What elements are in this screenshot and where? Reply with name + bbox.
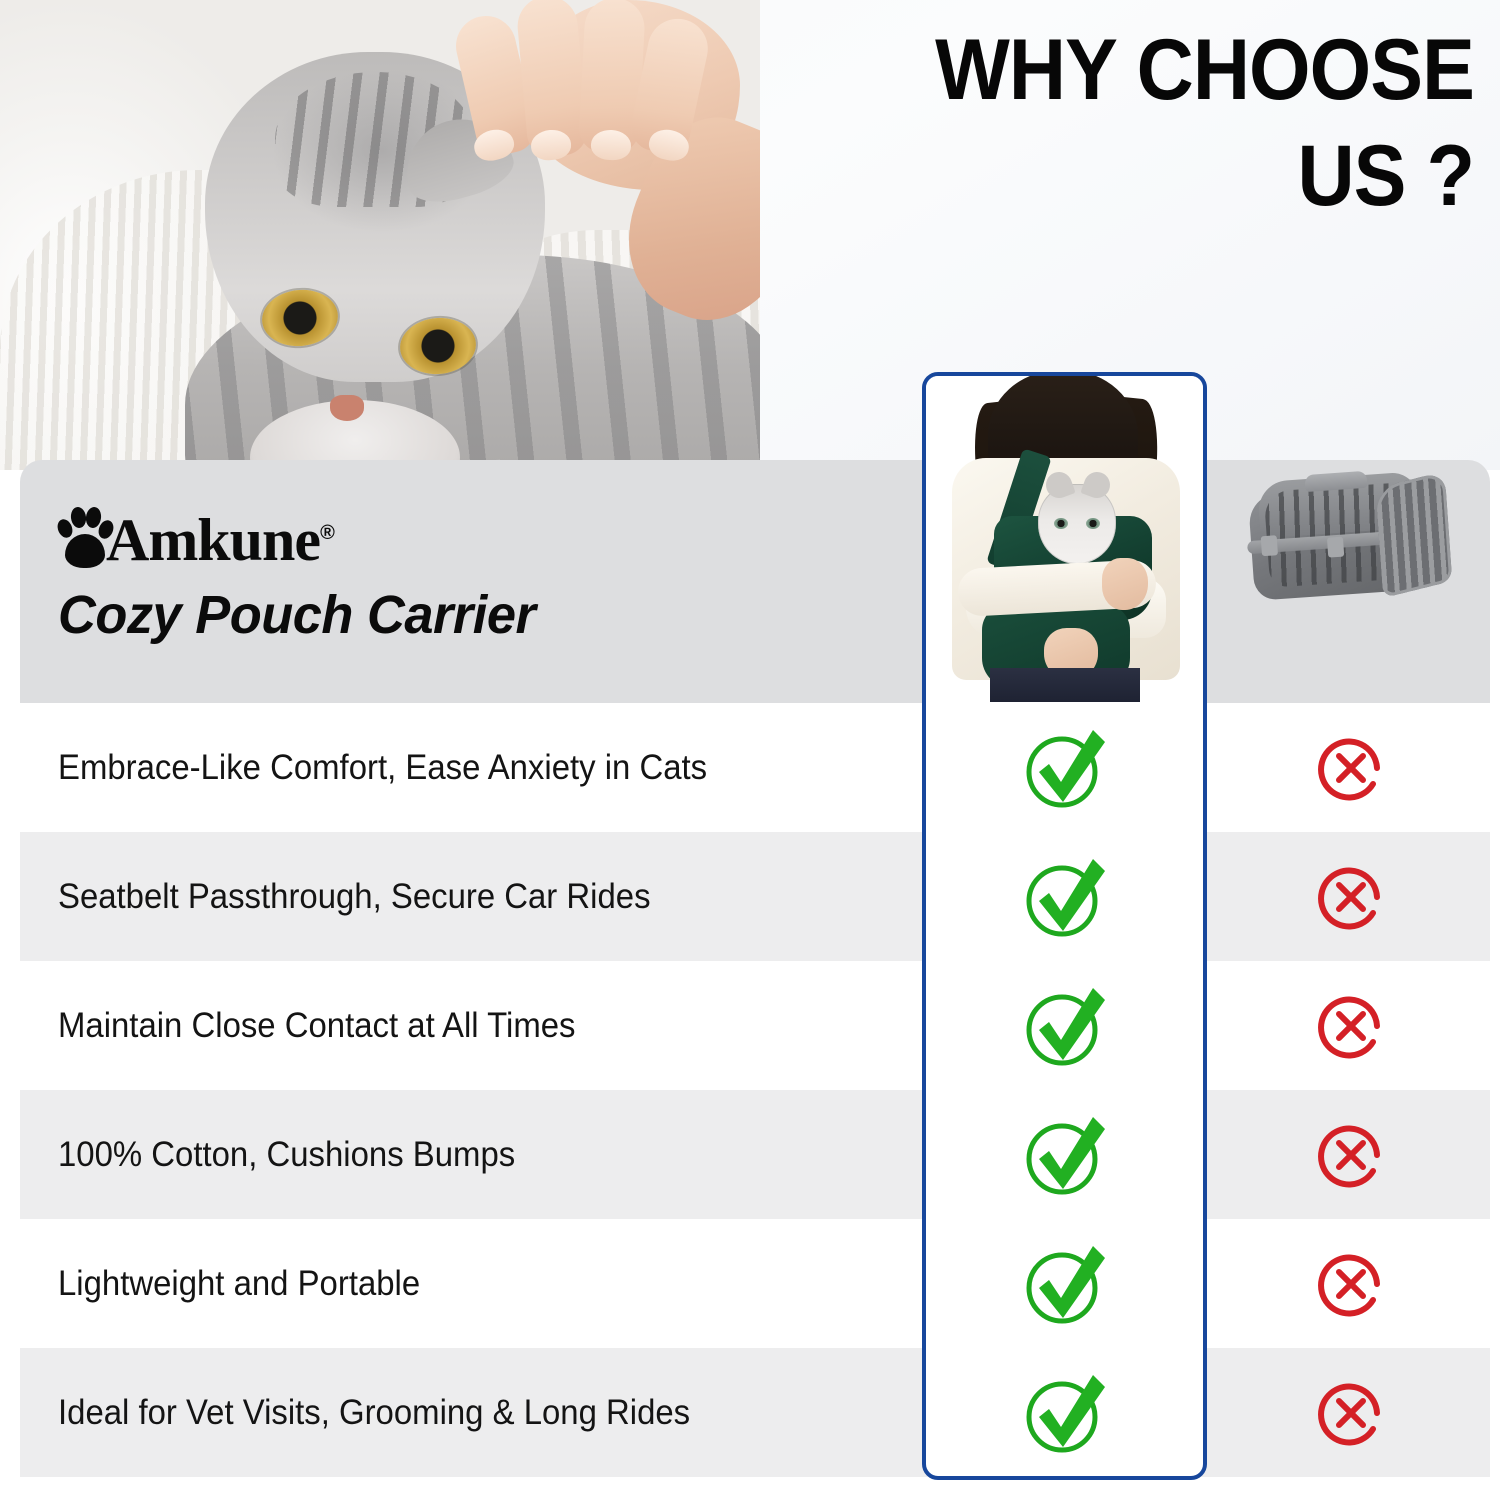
crate-latch [1261,535,1278,556]
feature-label: Embrace-Like Comfort, Ease Anxiety in Ca… [58,748,749,788]
table-row: Maintain Close Contact at All Times [20,961,1490,1090]
paw-pad [65,534,105,568]
competitor-result-cell [1210,1348,1492,1477]
amkune-result-cell [922,961,1207,1090]
competitor-result-cell [1210,832,1492,961]
paw-print-icon [58,506,112,568]
headline: WHY CHOOSE US ? [654,28,1474,219]
red-x-circle-icon [1311,857,1391,937]
feature-label: Seatbelt Passthrough, Secure Car Rides [58,877,688,917]
competitor-result-cell [1210,1090,1492,1219]
amkune-result-cell [922,1348,1207,1477]
model-hand-upper [1102,558,1148,610]
crate-handle [1304,470,1367,491]
crate-door [1376,471,1453,598]
table-row: Lightweight and Portable [20,1219,1490,1348]
brand-header-cell: Amkune® Cozy Pouch Carrier [58,494,818,646]
table-row: Seatbelt Passthrough, Secure Car Rides [20,832,1490,961]
brand-name-text: Amkune [106,507,320,573]
headline-line-1: WHY CHOOSE [720,28,1474,112]
paw-toe [70,506,88,529]
green-check-circle-icon [1017,1236,1113,1332]
brand-logo: Amkune® [58,494,818,568]
amkune-product-image [926,376,1203,702]
product-name: Cozy Pouch Carrier [58,584,795,646]
red-x-circle-icon [1311,1373,1391,1453]
competitor-result-cell [1210,961,1492,1090]
carrier-cat-eye-left [1054,518,1068,529]
green-check-circle-icon [1017,1107,1113,1203]
amkune-result-cell [922,832,1207,961]
red-x-circle-icon [1311,728,1391,808]
table-row: Embrace-Like Comfort, Ease Anxiety in Ca… [20,703,1490,832]
green-check-circle-icon [1017,978,1113,1074]
pet-crate-illustration [1247,467,1455,609]
competitor-product-image [1210,372,1492,703]
table-row: Ideal for Vet Visits, Grooming & Long Ri… [20,1348,1490,1477]
table-row: 100% Cotton, Cushions Bumps [20,1090,1490,1219]
hero-cat-photo [0,0,760,470]
model-pants [990,668,1140,702]
cat-in-carrier [1038,484,1116,564]
green-check-circle-icon [1017,720,1113,816]
feature-label: Ideal for Vet Visits, Grooming & Long Ri… [58,1393,731,1433]
carrier-cat-eye-right [1086,518,1100,529]
red-x-circle-icon [1311,1244,1391,1324]
infographic-canvas: WHY CHOOSE US ? Amkune® Cozy Pouch Carri… [0,0,1500,1485]
green-check-circle-icon [1017,1365,1113,1461]
registered-trademark-mark: ® [320,522,334,544]
feature-label: Maintain Close Contact at All Times [58,1006,609,1046]
competitor-result-cell [1210,1219,1492,1348]
amkune-result-cell [922,1219,1207,1348]
amkune-result-cell [922,1090,1207,1219]
red-x-circle-icon [1311,986,1391,1066]
cat-nose [330,395,364,421]
red-x-circle-icon [1311,1115,1391,1195]
green-check-circle-icon [1017,849,1113,945]
amkune-result-cell [922,703,1207,832]
feature-label: Lightweight and Portable [58,1264,443,1304]
headline-line-2: US ? [720,134,1474,218]
brand-name: Amkune® [106,513,334,568]
competitor-result-cell [1210,703,1492,832]
crate-latch [1327,536,1344,557]
comparison-table: Amkune® Cozy Pouch Carrier [20,460,1492,1480]
feature-label: 100% Cotton, Cushions Bumps [58,1135,544,1175]
